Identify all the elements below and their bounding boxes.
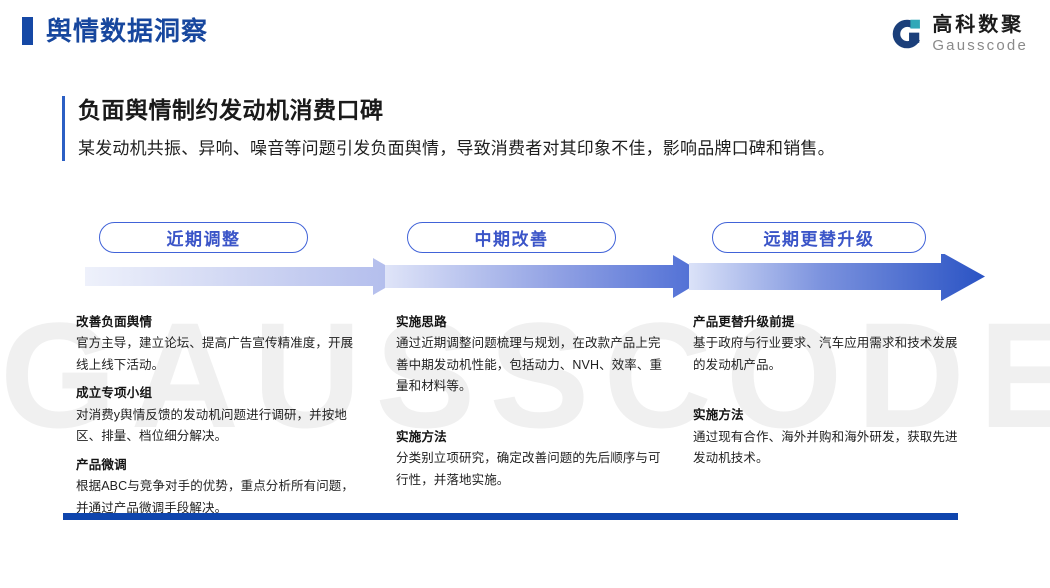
column-near-term: 改善负面舆情 官方主导，建立论坛、提高广告宣传精准度，开展线上线下活动。 成立专… <box>76 313 358 527</box>
block-heading: 产品微调 <box>76 456 358 475</box>
block-body: 官方主导，建立论坛、提高广告宣传精准度，开展线上线下活动。 <box>76 333 358 376</box>
brand-name-en: Gausscode <box>932 37 1028 54</box>
content-block: 实施思路 通过近期调整问题梳理与规划，在改款产品上完善中期发动机性能，包括动力、… <box>396 313 666 398</box>
column-spacer <box>396 406 666 428</box>
block-heading: 实施方法 <box>693 406 965 425</box>
stage-pill-near-term[interactable]: 近期调整 <box>99 222 308 253</box>
column-mid-term: 实施思路 通过近期调整问题梳理与规划，在改款产品上完善中期发动机性能，包括动力、… <box>396 313 666 499</box>
column-long-term: 产品更替升级前提 基于政府与行业要求、汽车应用需求和技术发展的发动机产品。 实施… <box>693 313 965 478</box>
block-body: 对消费y舆情反馈的发动机问题进行调研，并按地区、排量、档位细分解决。 <box>76 405 358 448</box>
block-body: 基于政府与行业要求、汽车应用需求和技术发展的发动机产品。 <box>693 333 965 376</box>
gausscode-logo-icon <box>890 17 924 51</box>
column-spacer <box>693 384 965 406</box>
content-block: 产品微调 根据ABC与竞争对手的优势，重点分析所有问题，并通过产品微调手段解决。 <box>76 456 358 519</box>
header-title-group: 舆情数据洞察 <box>22 17 208 45</box>
content-block: 成立专项小组 对消费y舆情反馈的发动机问题进行调研，并按地区、排量、档位细分解决… <box>76 384 358 447</box>
header-bullet-icon <box>22 17 33 45</box>
stage-pill-label: 远期更替升级 <box>764 225 875 250</box>
brand-logo: 高科数聚 Gausscode <box>890 14 1028 54</box>
block-heading: 成立专项小组 <box>76 384 358 403</box>
bottom-accent-bar <box>63 513 958 520</box>
main-title: 负面舆情制约发动机消费口碑 <box>78 96 978 126</box>
stage-pill-label: 近期调整 <box>167 225 241 250</box>
block-heading: 改善负面舆情 <box>76 313 358 332</box>
block-heading: 实施思路 <box>396 313 666 332</box>
block-heading: 实施方法 <box>396 428 666 447</box>
content-block: 产品更替升级前提 基于政府与行业要求、汽车应用需求和技术发展的发动机产品。 <box>693 313 965 376</box>
block-body: 通过近期调整问题梳理与规划，在改款产品上完善中期发动机性能，包括动力、NVH、效… <box>396 333 666 398</box>
page-title: 舆情数据洞察 <box>46 18 208 44</box>
sub-title: 某发动机共振、异响、噪音等问题引发负面舆情，导致消费者对其印象不佳，影响品牌口碑… <box>78 137 978 161</box>
content-block: 实施方法 分类别立项研究，确定改善问题的先后顺序与可行性，并落地实施。 <box>396 428 666 491</box>
stage-pill-mid-term[interactable]: 中期改善 <box>407 222 616 253</box>
page-header: 舆情数据洞察 高科数聚 Gausscode <box>0 0 1050 66</box>
content-block: 实施方法 通过现有合作、海外并购和海外研发，获取先进发动机技术。 <box>693 406 965 469</box>
stage-pill-long-term[interactable]: 远期更替升级 <box>712 222 926 253</box>
timeline-arrow <box>85 254 985 302</box>
title-block: 负面舆情制约发动机消费口碑 某发动机共振、异响、噪音等问题引发负面舆情，导致消费… <box>62 96 978 161</box>
brand-name-cn: 高科数聚 <box>932 14 1028 37</box>
brand-logo-text: 高科数聚 Gausscode <box>932 14 1028 54</box>
block-heading: 产品更替升级前提 <box>693 313 965 332</box>
timeline-arrow-icon <box>85 254 985 302</box>
block-body: 分类别立项研究，确定改善问题的先后顺序与可行性，并落地实施。 <box>396 448 666 491</box>
content-block: 改善负面舆情 官方主导，建立论坛、提高广告宣传精准度，开展线上线下活动。 <box>76 313 358 376</box>
block-body: 通过现有合作、海外并购和海外研发，获取先进发动机技术。 <box>693 427 965 470</box>
stage-pill-label: 中期改善 <box>475 225 549 250</box>
